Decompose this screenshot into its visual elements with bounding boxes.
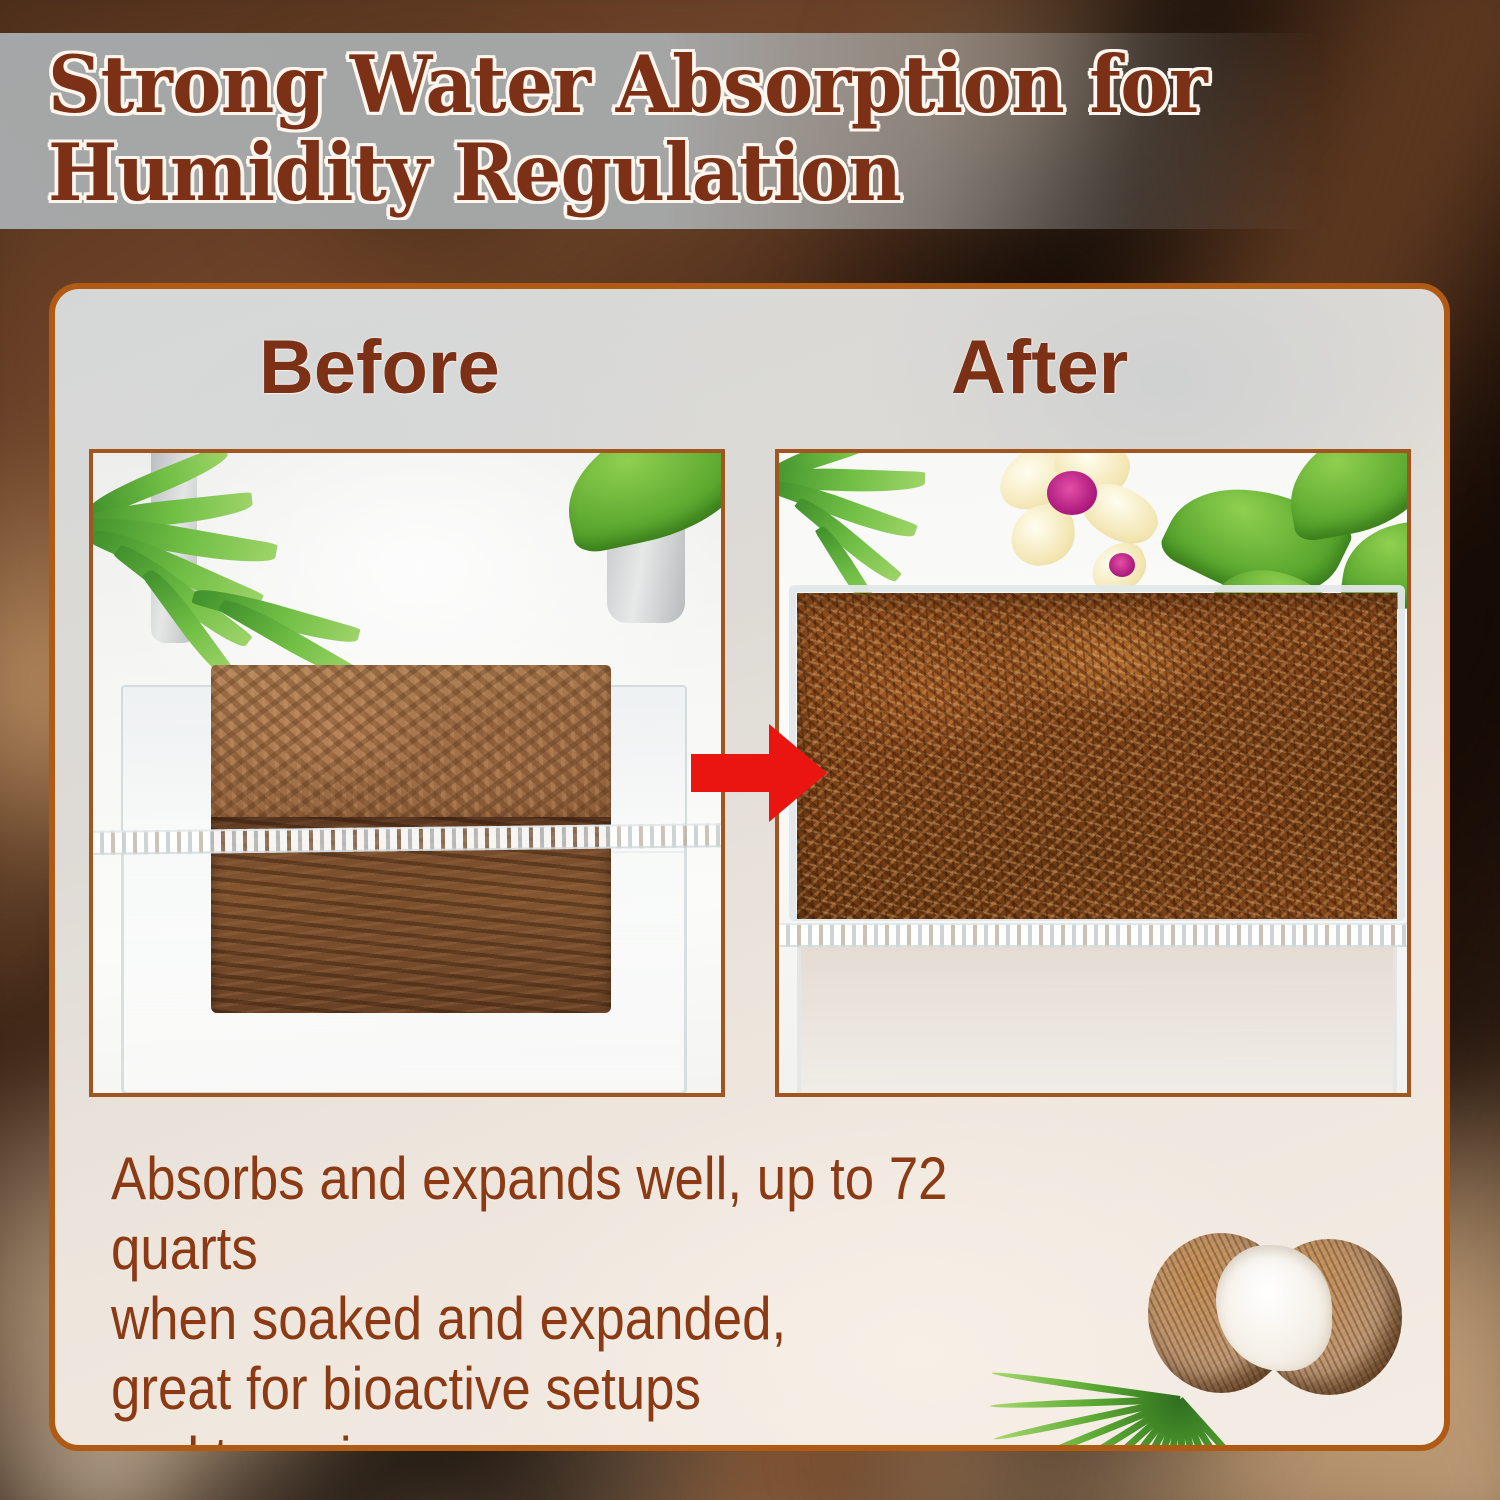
promo-image-root: Strong Water Absorption for Humidity Reg… [0,0,1500,1500]
before-photo-image [93,453,721,1093]
orchid-lip [1047,471,1097,515]
caption-text: Absorbs and expands well, up to 72 quart… [111,1144,1061,1451]
tray-rim-strip [779,923,1407,947]
acrylic-tray-front [797,945,1397,1093]
content-card: Before After [49,283,1450,1451]
after-photo-image [779,453,1407,1093]
before-label: Before [259,326,500,410]
page-title: Strong Water Absorption for Humidity Reg… [48,41,1294,217]
after-photo-panel [775,449,1411,1097]
coco-brick-top [211,665,611,825]
after-label: After [951,326,1128,410]
coconut-graphic [1004,1161,1434,1441]
orchid-lip [1109,553,1135,577]
before-photo-panel [89,449,725,1097]
right-arrow-icon [691,724,827,822]
expanded-coco-substrate [797,593,1397,919]
